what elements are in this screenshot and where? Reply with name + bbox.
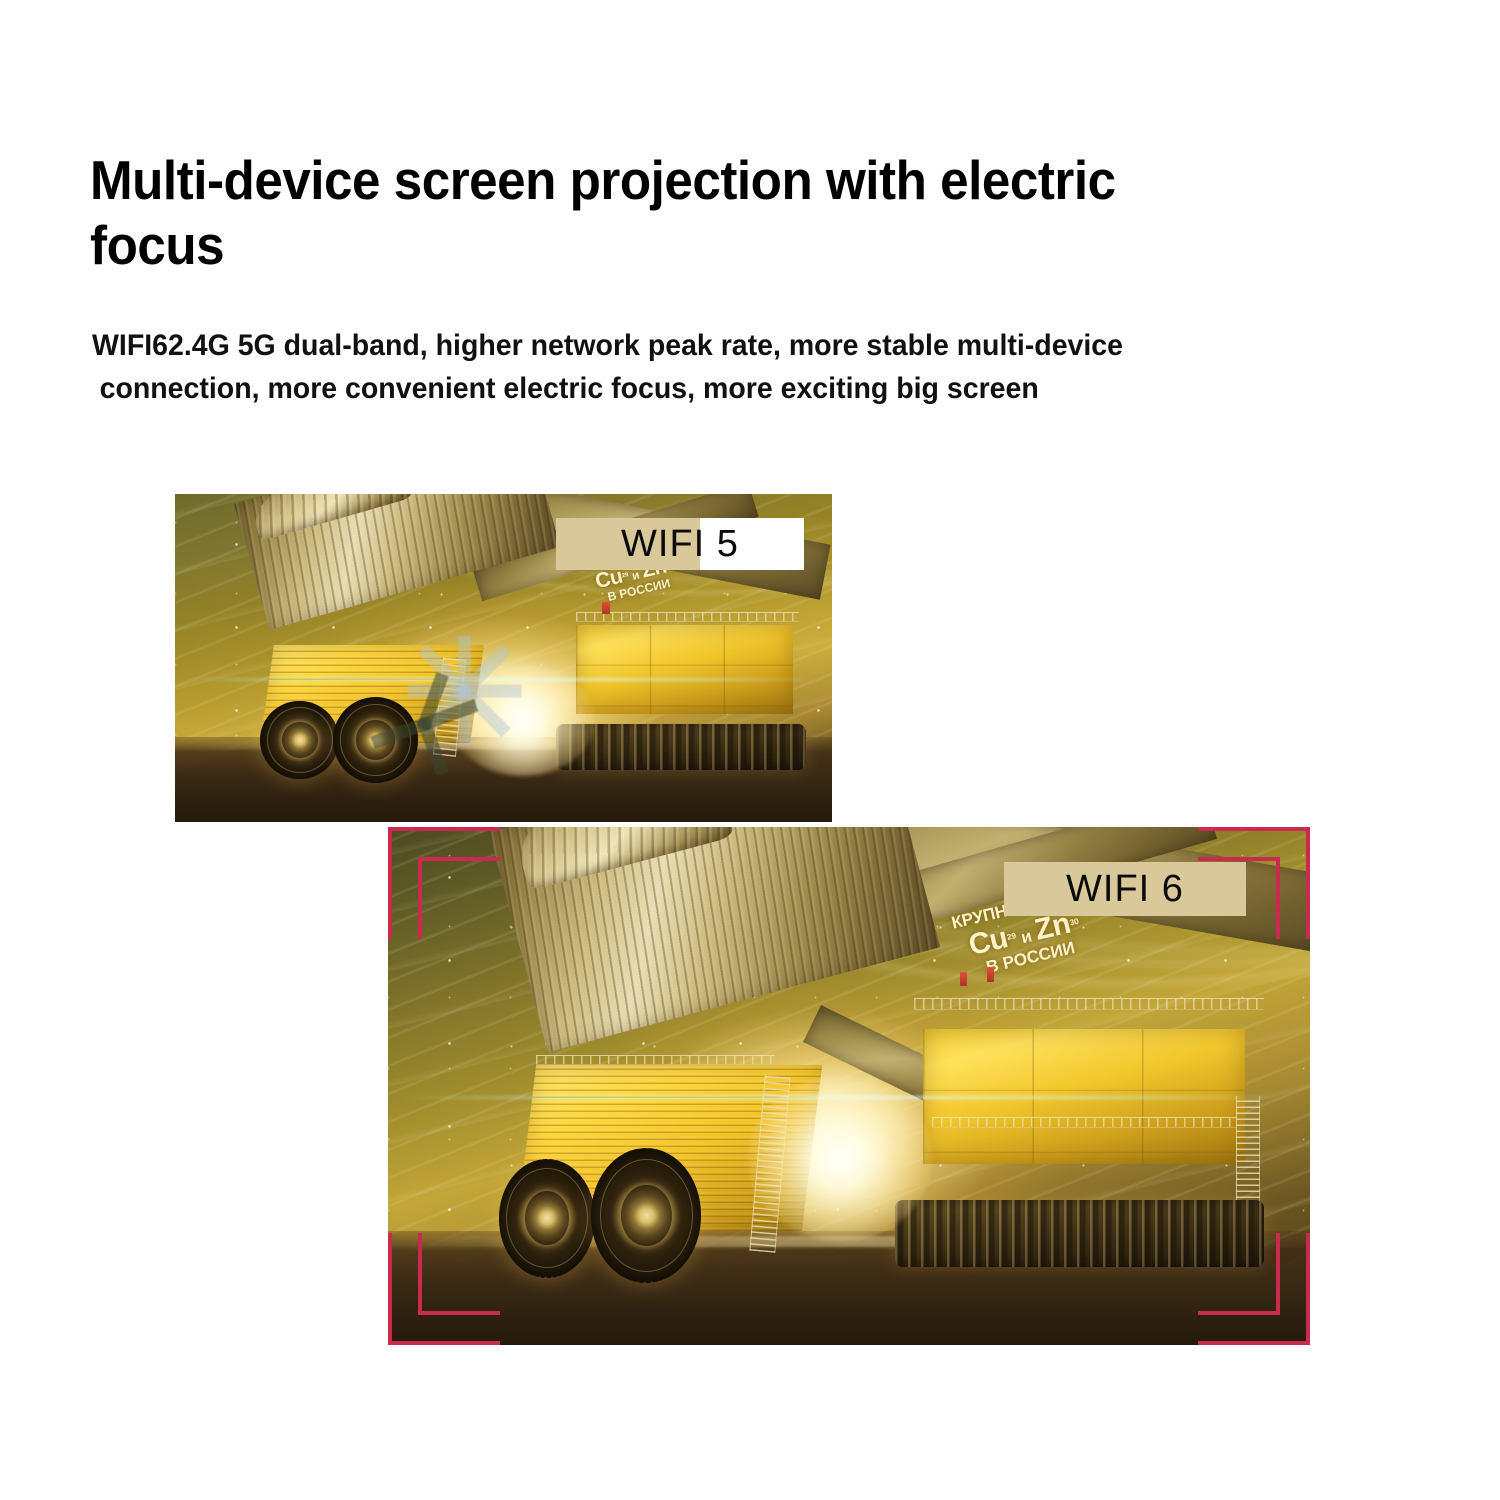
wifi5-badge: WIFI 5: [556, 518, 804, 570]
truck-wheel-front: [333, 697, 418, 782]
lens-flare-streak: [397, 1096, 1301, 1099]
truck-wheel-rear: [260, 701, 339, 780]
truck-wheel-front: [591, 1148, 702, 1283]
page-subtitle: WIFI62.4G 5G dual-band, higher network p…: [92, 325, 1356, 410]
sun-glow: [748, 1076, 932, 1242]
tire-tread: [499, 1159, 596, 1278]
sun-glow: [451, 665, 596, 777]
page-title: Multi-device screen projection with elec…: [90, 148, 1253, 278]
subtitle-line-2: connection, more convenient electric foc…: [92, 368, 1356, 411]
lens-flare-streak: [188, 678, 819, 681]
tire-tread: [591, 1148, 702, 1283]
tire-tread: [333, 697, 418, 782]
tire-tread: [260, 701, 339, 780]
wifi6-badge: WIFI 6: [1004, 862, 1246, 916]
truck-wheel-rear: [499, 1159, 596, 1278]
truck-railing: [536, 1055, 776, 1065]
subtitle-line-1: WIFI62.4G 5G dual-band, higher network p…: [92, 325, 1356, 368]
